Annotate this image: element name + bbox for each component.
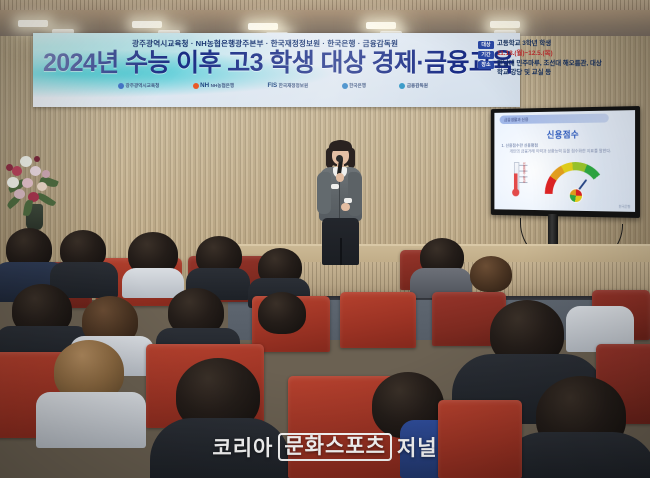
flower-bloom-pink	[42, 170, 50, 178]
gauge-arc	[545, 162, 607, 212]
sponsor-logo-label: NH농협은행	[211, 83, 235, 89]
thermometer-label: 신용점수 등급	[522, 162, 527, 182]
info-value: 11.18.(월)~12.5.(목)	[497, 50, 553, 59]
banner-sponsor-logos: 광주광역시교육청 NH NH농협은행 FIS 한국재정정보원 한국은행 금융감독…	[118, 82, 428, 89]
sponsor-logo-label: 한국재정정보원	[279, 83, 309, 89]
logo-mark-icon	[342, 83, 348, 89]
info-row-period: 기간 11.18.(월)~12.5.(목)	[478, 50, 608, 59]
slide-footer: 한국은행	[619, 204, 630, 209]
slide-title: 신용점수	[494, 127, 635, 141]
audience-head	[258, 292, 306, 334]
flower-bloom-white	[7, 177, 19, 188]
flower-bloom-white	[20, 156, 32, 167]
sponsor-logo-label: 한국은행	[349, 83, 366, 89]
info-value: 고등학교 3학년 학생	[497, 40, 551, 49]
audience-shoulders	[122, 268, 184, 298]
logo-mark-icon	[118, 83, 124, 89]
audience-head	[470, 256, 512, 292]
sponsor-logo-fis: FIS 한국재정정보원	[267, 82, 308, 89]
slide-credit-gauge-chart	[545, 162, 607, 198]
ceiling-light	[490, 21, 520, 28]
lecture-photo: 광주광역시교육청 · NH농협은행광주본부 · 한국재정정보원 · 한국은행 ·…	[0, 0, 650, 478]
gauge-hub-icon	[569, 188, 583, 203]
banner-title: 2024년 수능 이후 고3 학생 대상 경제·금융교육	[43, 50, 493, 77]
info-tag: 장소	[478, 61, 494, 69]
microphone-head-icon	[336, 155, 343, 162]
speaker-hair-right	[348, 148, 355, 168]
sponsor-logo-bank-of-korea: 한국은행	[342, 83, 366, 89]
flower-bloom-burgundy	[6, 164, 13, 171]
sponsor-logo-fss: 금융감독원	[399, 83, 428, 89]
sponsor-logo-nh-bank: NH NH농협은행	[193, 82, 234, 89]
flower-bloom-pink	[30, 166, 41, 176]
watermark: 코리아 문화스포츠 저널	[0, 432, 650, 462]
speaker-arm-left	[317, 172, 331, 214]
logo-mark-icon	[399, 83, 405, 89]
presentation-slide: 금융생활과 신용 신용점수 1. 신용점수란 신용평점 개인의 금융거래 이력과…	[494, 110, 635, 212]
flower-bloom-burgundy	[12, 166, 22, 176]
ceiling-soffit	[0, 0, 650, 36]
speaker-hand-upper	[336, 173, 344, 182]
info-value: 전남대 민주마루, 조선대 해오름관, 대상 학교 강당 및 교실 등	[497, 60, 605, 77]
banner-info-box: 대상 고등학교 3학년 학생 기간 11.18.(월)~12.5.(목) 장소 …	[478, 40, 608, 79]
sponsor-logo-label: 광주광역시교육청	[126, 83, 160, 89]
ceiling-light	[366, 22, 396, 29]
speaker-leg-split	[340, 238, 342, 265]
presentation-tv: 금융생활과 신용 신용점수 1. 신용점수란 신용평점 개인의 금융거래 이력과…	[491, 106, 640, 218]
watermark-boxed-text: 문화스포츠	[278, 433, 392, 461]
sponsor-logo-label: 금융감독원	[407, 83, 428, 89]
logo-mark-icon	[193, 83, 199, 89]
event-banner: 광주광역시교육청 · NH농협은행광주본부 · 한국재정정보원 · 한국은행 ·…	[33, 33, 520, 107]
sponsor-logo-prefix: FIS	[267, 82, 277, 89]
ceiling-light	[18, 20, 48, 27]
slide-body: 1. 신용점수란 신용평점 개인의 금융거래 이력과 상환능력 등을 점수화한 …	[501, 142, 622, 154]
watermark-left-text: 코리아	[212, 432, 273, 462]
slide-header-tab: 금융생활과 신용	[500, 114, 609, 125]
flower-bloom-burgundy	[34, 156, 40, 162]
ceiling-light	[132, 21, 162, 28]
speaker-cuff-left	[331, 184, 339, 189]
speaker-bangs	[329, 141, 352, 151]
banner-organizers: 광주광역시교육청 · NH농협은행광주본부 · 한국재정정보원 · 한국은행 ·…	[55, 38, 475, 49]
speaker-hand-lower	[341, 203, 350, 211]
slide-bullet-2: 개인의 금융거래 이력과 상환능력 등을 점수화한 지표를 말한다.	[501, 148, 622, 154]
ceiling-light	[248, 23, 278, 30]
flower-bloom-cream	[37, 182, 47, 191]
slide-thermometer-graphic: 신용점수 등급	[509, 160, 532, 196]
info-row-target: 대상 고등학교 3학년 학생	[478, 40, 608, 49]
info-tag: 대상	[478, 41, 494, 49]
info-tag: 기간	[478, 51, 494, 59]
flower-bloom-pink	[14, 189, 25, 199]
info-row-location: 장소 전남대 민주마루, 조선대 해오름관, 대상 학교 강당 및 교실 등	[478, 60, 608, 77]
speaker-presenter	[314, 140, 366, 265]
sponsor-logo-prefix: NH	[200, 82, 209, 89]
ceiling-slats	[0, 0, 650, 10]
watermark-right-text: 저널	[397, 432, 438, 462]
flower-bloom-pink	[22, 178, 33, 188]
seat-back	[340, 292, 416, 348]
thermometer-bulb-icon	[512, 189, 519, 197]
speaker-arm-right	[348, 172, 362, 216]
sponsor-logo-gwangju-education: 광주광역시교육청	[118, 83, 159, 89]
flower-arrangement	[4, 152, 66, 230]
slide-header-label: 금융생활과 신용	[500, 114, 609, 125]
